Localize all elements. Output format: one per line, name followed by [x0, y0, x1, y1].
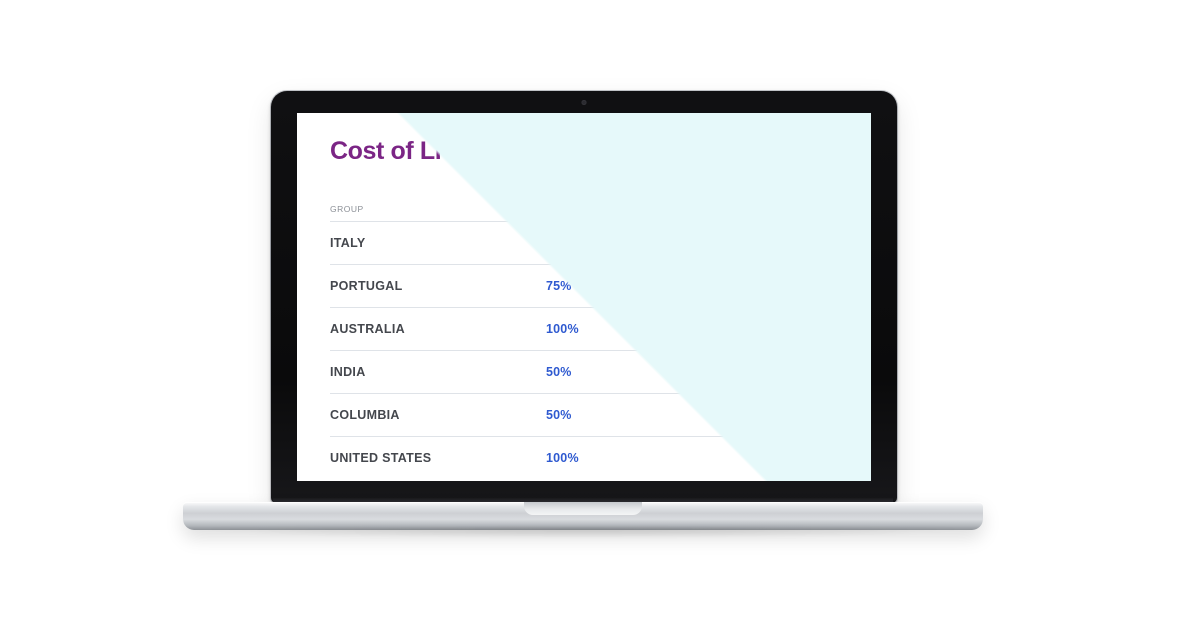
laptop-base-assembly: [183, 502, 983, 548]
table-header-row: GROUP VALUE OF POINTS: [330, 204, 838, 221]
cell-point-value: 75%: [546, 236, 838, 250]
webcam-dot-icon: [582, 100, 587, 105]
brand-logo: kazoo: [772, 137, 838, 178]
table-row[interactable]: INDIA 50%: [330, 350, 838, 393]
table-row[interactable]: AUSTRALIA 100%: [330, 307, 838, 350]
column-header-group: GROUP: [330, 204, 546, 214]
cell-point-value: 100%: [546, 451, 838, 465]
laptop-base: [183, 502, 983, 530]
laptop-base-notch: [524, 502, 642, 515]
laptop-mockup: Cost of Living Adjustment kazoo GROUP V: [0, 0, 1200, 628]
laptop-drop-shadow: [203, 528, 963, 538]
laptop-screen: Cost of Living Adjustment kazoo GROUP V: [297, 113, 871, 481]
cell-group-name: ITALY: [330, 236, 546, 250]
slide-header: Cost of Living Adjustment kazoo: [330, 139, 838, 178]
slide-content: Cost of Living Adjustment kazoo GROUP V: [297, 113, 871, 481]
table-row[interactable]: COLUMBIA 50%: [330, 393, 838, 436]
bunting-triangles-icon: [775, 165, 835, 178]
brand-wordmark: kazoo: [772, 137, 838, 162]
laptop-lid: Cost of Living Adjustment kazoo GROUP V: [271, 91, 897, 503]
cell-group-name: AUSTRALIA: [330, 322, 546, 336]
cell-group-name: INDIA: [330, 365, 546, 379]
cell-group-name: UNITED STATES: [330, 451, 546, 465]
table-row[interactable]: ITALY 75%: [330, 221, 838, 264]
column-header-value-of-points: VALUE OF POINTS: [546, 204, 838, 214]
bunting-flag-icon: [796, 165, 814, 178]
cell-group-name: PORTUGAL: [330, 279, 546, 293]
page-title: Cost of Living Adjustment: [330, 139, 630, 164]
cell-point-value: 50%: [546, 365, 838, 379]
cell-point-value: 75%: [546, 279, 838, 293]
bunting-flag-icon: [817, 165, 835, 178]
cell-point-value: 100%: [546, 322, 838, 336]
bunting-flag-icon: [775, 165, 793, 178]
table-row[interactable]: PORTUGAL 75%: [330, 264, 838, 307]
cell-point-value: 50%: [546, 408, 838, 422]
cell-group-name: COLUMBIA: [330, 408, 546, 422]
cost-of-living-table: GROUP VALUE OF POINTS ITALY 75% PORTUGAL…: [330, 204, 838, 479]
table-row[interactable]: UNITED STATES 100%: [330, 436, 838, 479]
